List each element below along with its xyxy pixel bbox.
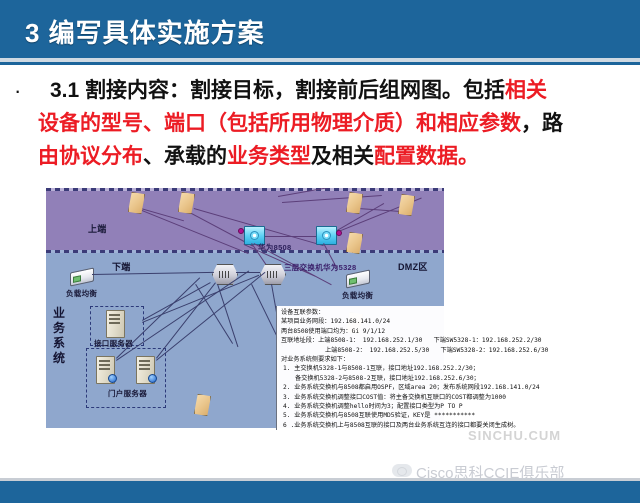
slide-body-text: 3.1 割接内容：割接目标，割接前后组网图。包括相关 设备的型号、端口（包括所用…: [12, 74, 630, 173]
info-item: 5. 业务系统交换机与8508互联使用MD5验证，KEY是 **********…: [281, 411, 558, 420]
info-item: 2. 业务系统交换机与8508都启用OSPF，区域area 20；发布系统网段1…: [281, 383, 558, 392]
info-item: 3. 业务系统交换机调整接口COST值：将主备交换机互联口的COST都调整为10…: [281, 393, 558, 402]
line3-black-a: 、承载的: [143, 145, 227, 168]
line2-black: ，路: [521, 112, 563, 135]
info-link-1: 互联地址段：上端8508-1： 192.168.252.1/30 下端SW532…: [281, 336, 558, 345]
label-upstream: 上端: [88, 222, 107, 235]
info-link-2-right: 下端SW5328-2：192.168.252.6/30: [440, 347, 548, 354]
label-business-system: 业务系统: [52, 306, 66, 366]
interface-server-icon: [106, 310, 125, 338]
header-underline-accent: [0, 62, 640, 65]
label-load-balancer-top: 负载均衡: [66, 288, 97, 299]
line3-red-c: 配置数据。: [374, 145, 479, 168]
portal-server-globe-2: [148, 374, 157, 383]
info-title: 设备互联参数：: [281, 308, 558, 317]
section-label: 割接内容：: [85, 79, 190, 102]
section-number: 3.1: [50, 79, 79, 102]
slide-footer-bar: [0, 481, 640, 503]
network-topology-diagram: 上端 华为8508 下端 负载均衡 三层交换机华为5328 DMZ区 负载均衡 …: [46, 188, 558, 450]
info-segment: 某项目业务网段：192.168.141.0/24: [281, 317, 558, 326]
label-downstream: 下端: [112, 260, 131, 273]
line3-black-b: 及相关: [311, 145, 374, 168]
diagram-watermark: SINCHU.CUM: [468, 428, 561, 443]
info-link-2: 上端8508-2： 192.168.252.5/30 下端SW5328-2：19…: [281, 346, 558, 355]
body-line-3: 由协议分布、承载的业务类型及相关配置数据。: [12, 140, 630, 173]
label-load-balancer-dmz: 负载均衡: [342, 290, 373, 301]
line1-red: 相关: [505, 79, 547, 102]
port-indicator-1: [238, 228, 244, 234]
page-title: 3 编写具体实施方案: [25, 13, 265, 50]
line3-red-b: 业务类型: [227, 145, 311, 168]
info-link-1-left: 互联地址段：上端8508-1： 192.168.252.1/30: [281, 337, 422, 344]
info-item: 1. 主交换机5328-1与8508-1互联，接口地址192.168.252.2…: [281, 364, 558, 373]
info-link-1-right: 下端SW5328-1：192.168.252.2/30: [434, 337, 542, 344]
info-link-2-left: 上端8508-2： 192.168.252.5/30: [325, 347, 429, 354]
port-indicator-2: [336, 230, 342, 236]
info-item: 备交换机5328-2与8508-2互联，接口地址192.168.252.6/30…: [281, 374, 558, 383]
l3-switch-5328-1: [212, 264, 238, 285]
info-port: 两台8508使用端口均为：Gi 9/1/12: [281, 327, 558, 336]
body-line-2: 设备的型号、端口（包括所用物理介质）和相应参数，路: [12, 107, 630, 140]
label-dmz: DMZ区: [398, 260, 428, 273]
info-item: 4. 业务系统交换机调整hello时间为3；配置接口类型为P TO P: [281, 402, 558, 411]
device-parameters-panel: 设备互联参数： 某项目业务网段：192.168.141.0/24 两台8508使…: [276, 306, 558, 430]
body-line-1: 3.1 割接内容：割接目标，割接前后组网图。包括相关: [12, 74, 630, 107]
label-l3-switch: 三层交换机华为5328: [284, 262, 356, 273]
label-portal-server: 门户服务器: [108, 388, 147, 399]
line3-red-a: 由协议分布: [38, 145, 143, 168]
core-switch-8508-2: [316, 226, 337, 245]
zone-upstream-top-border: [46, 188, 444, 191]
info-req-title: 对业务系统侧要求如下：: [281, 355, 558, 364]
l3-switch-5328-2: [260, 264, 286, 285]
portal-server-globe-1: [108, 374, 117, 383]
line2-red: 设备的型号、端口（包括所用物理介质）和相应参数: [38, 112, 521, 135]
line1-black: 割接目标，割接前后组网图。包括: [190, 79, 505, 102]
